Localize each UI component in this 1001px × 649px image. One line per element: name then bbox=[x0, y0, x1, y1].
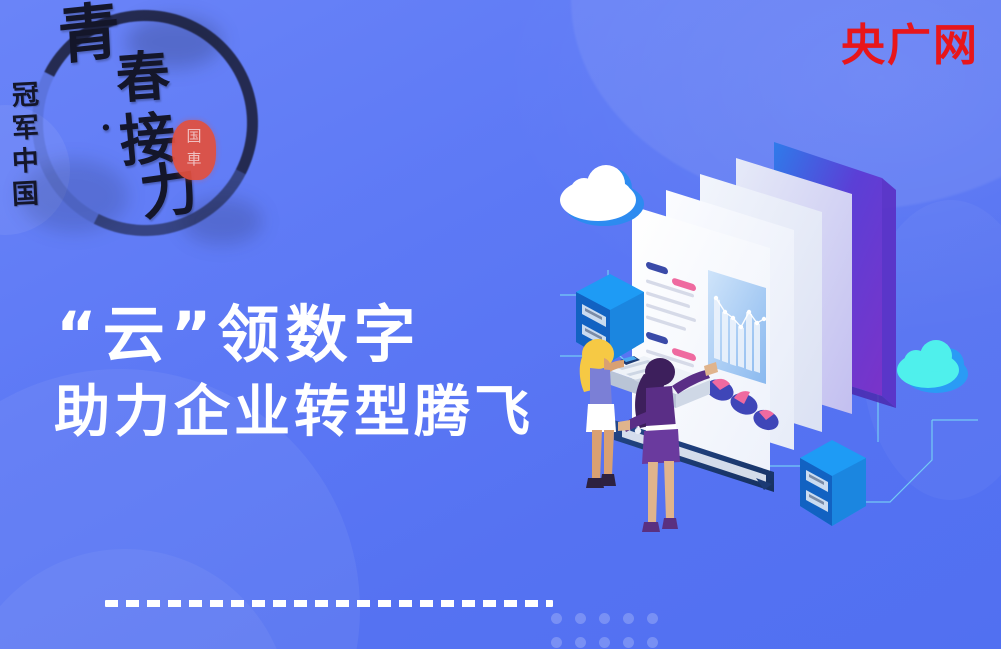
headline-block: “云”领数字 助力企业转型腾飞 bbox=[56, 300, 534, 446]
grid-dot bbox=[575, 613, 586, 624]
cloud-top-left bbox=[560, 165, 644, 226]
calligraphy-subtitle-column: 冠 军 中 国 bbox=[12, 80, 39, 212]
seal-char-2: 車 bbox=[186, 150, 201, 168]
grid-dot bbox=[599, 613, 610, 624]
server-bottom-right bbox=[800, 440, 866, 526]
dashed-divider bbox=[105, 600, 553, 607]
grid-dot bbox=[647, 613, 658, 624]
calligraphy-sub-char-2: 军 bbox=[11, 112, 40, 146]
seal-char-1: 国 bbox=[186, 127, 201, 145]
calligraphy-emblem: 青 春 · 接 力 冠 军 中 国 国 車 bbox=[4, 2, 272, 260]
grid-dot bbox=[551, 637, 562, 648]
headline-line-1: “云”领数字 bbox=[56, 300, 534, 369]
calligraphy-middot: · bbox=[100, 112, 110, 145]
calligraphy-sub-char-4: 国 bbox=[11, 178, 40, 212]
grid-dot bbox=[623, 613, 634, 624]
calligraphy-char-qing: 青 bbox=[57, 1, 120, 67]
grid-dot bbox=[575, 637, 586, 648]
calligraphy-sub-char-1: 冠 bbox=[11, 79, 40, 113]
red-seal-stamp: 国 車 bbox=[172, 120, 216, 180]
seal-inscription: 国 車 bbox=[172, 125, 216, 172]
calligraphy-sub-char-3: 中 bbox=[11, 145, 40, 179]
grid-dot bbox=[623, 637, 634, 648]
brand-logo: 央广网 bbox=[841, 24, 979, 68]
grid-dot bbox=[599, 637, 610, 648]
calligraphy-char-chun: 春 bbox=[114, 50, 169, 105]
isometric-illustration bbox=[560, 120, 1001, 570]
cloud-right bbox=[897, 340, 968, 393]
poster-canvas: 央广网 青 春 · 接 力 冠 军 中 国 国 車 “云”领数字 助力企业转 bbox=[0, 0, 1001, 649]
headline-line-2: 助力企业转型腾飞 bbox=[54, 381, 534, 445]
decorative-dot-grid bbox=[551, 613, 658, 648]
grid-dot bbox=[551, 613, 562, 624]
grid-dot bbox=[647, 637, 658, 648]
